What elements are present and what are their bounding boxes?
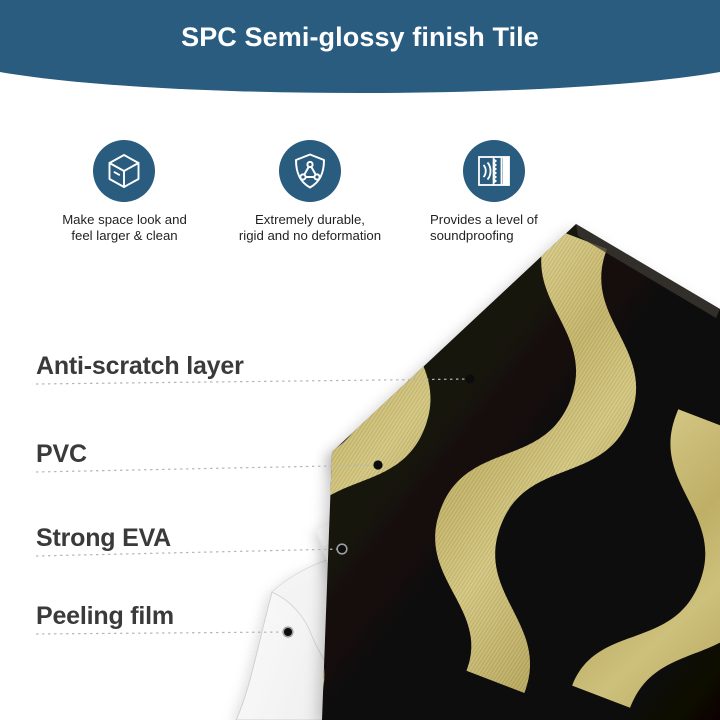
header-banner: SPC Semi-glossy finish Tile bbox=[0, 0, 720, 100]
dot-peeling-film bbox=[284, 628, 292, 636]
feature-caption-line2: soundproofing bbox=[430, 228, 514, 243]
dot-eva bbox=[338, 545, 346, 553]
dot-film-ring bbox=[282, 626, 293, 637]
page-title: SPC Semi-glossy finish Tile bbox=[0, 22, 720, 53]
feature-caption-line1: Make space look and bbox=[62, 212, 187, 227]
feature-caption-line1: Extremely durable, bbox=[255, 212, 365, 227]
layer-peeling-film bbox=[236, 548, 470, 720]
layer-pvc bbox=[332, 400, 700, 720]
infographic-page: SPC Semi-glossy finish Tile Make space l… bbox=[0, 0, 720, 720]
layer-label-strong-eva: Strong EVA bbox=[36, 524, 171, 553]
leader-lines bbox=[36, 379, 470, 634]
layer-label-anti-scratch: Anti-scratch layer bbox=[36, 352, 244, 381]
dot-eva-ring bbox=[336, 543, 347, 554]
leader-line-peeling-film bbox=[36, 632, 288, 634]
feature-caption: Provides a level of soundproofing bbox=[430, 212, 620, 244]
soundproofing-icon bbox=[463, 140, 525, 202]
feature-caption-line1: Provides a level of bbox=[430, 212, 538, 227]
leader-line-pvc bbox=[36, 465, 378, 472]
box-3d-icon bbox=[93, 140, 155, 202]
feature-caption: Make space look and feel larger & clean bbox=[22, 212, 227, 244]
shield-durability-icon bbox=[279, 140, 341, 202]
dot-anti-scratch bbox=[465, 374, 474, 383]
layer-strong-eva bbox=[316, 502, 556, 720]
feature-caption: Extremely durable, rigid and no deformat… bbox=[214, 212, 406, 244]
feature-list: Make space look and feel larger & clean … bbox=[0, 128, 720, 258]
layer-label-pvc: PVC bbox=[36, 440, 87, 469]
feature-caption-line2: rigid and no deformation bbox=[239, 228, 381, 243]
leader-end-dots bbox=[282, 374, 474, 637]
feature-caption-line2: feel larger & clean bbox=[71, 228, 177, 243]
dot-pvc bbox=[373, 460, 382, 469]
layer-label-peeling-film: Peeling film bbox=[36, 602, 174, 631]
